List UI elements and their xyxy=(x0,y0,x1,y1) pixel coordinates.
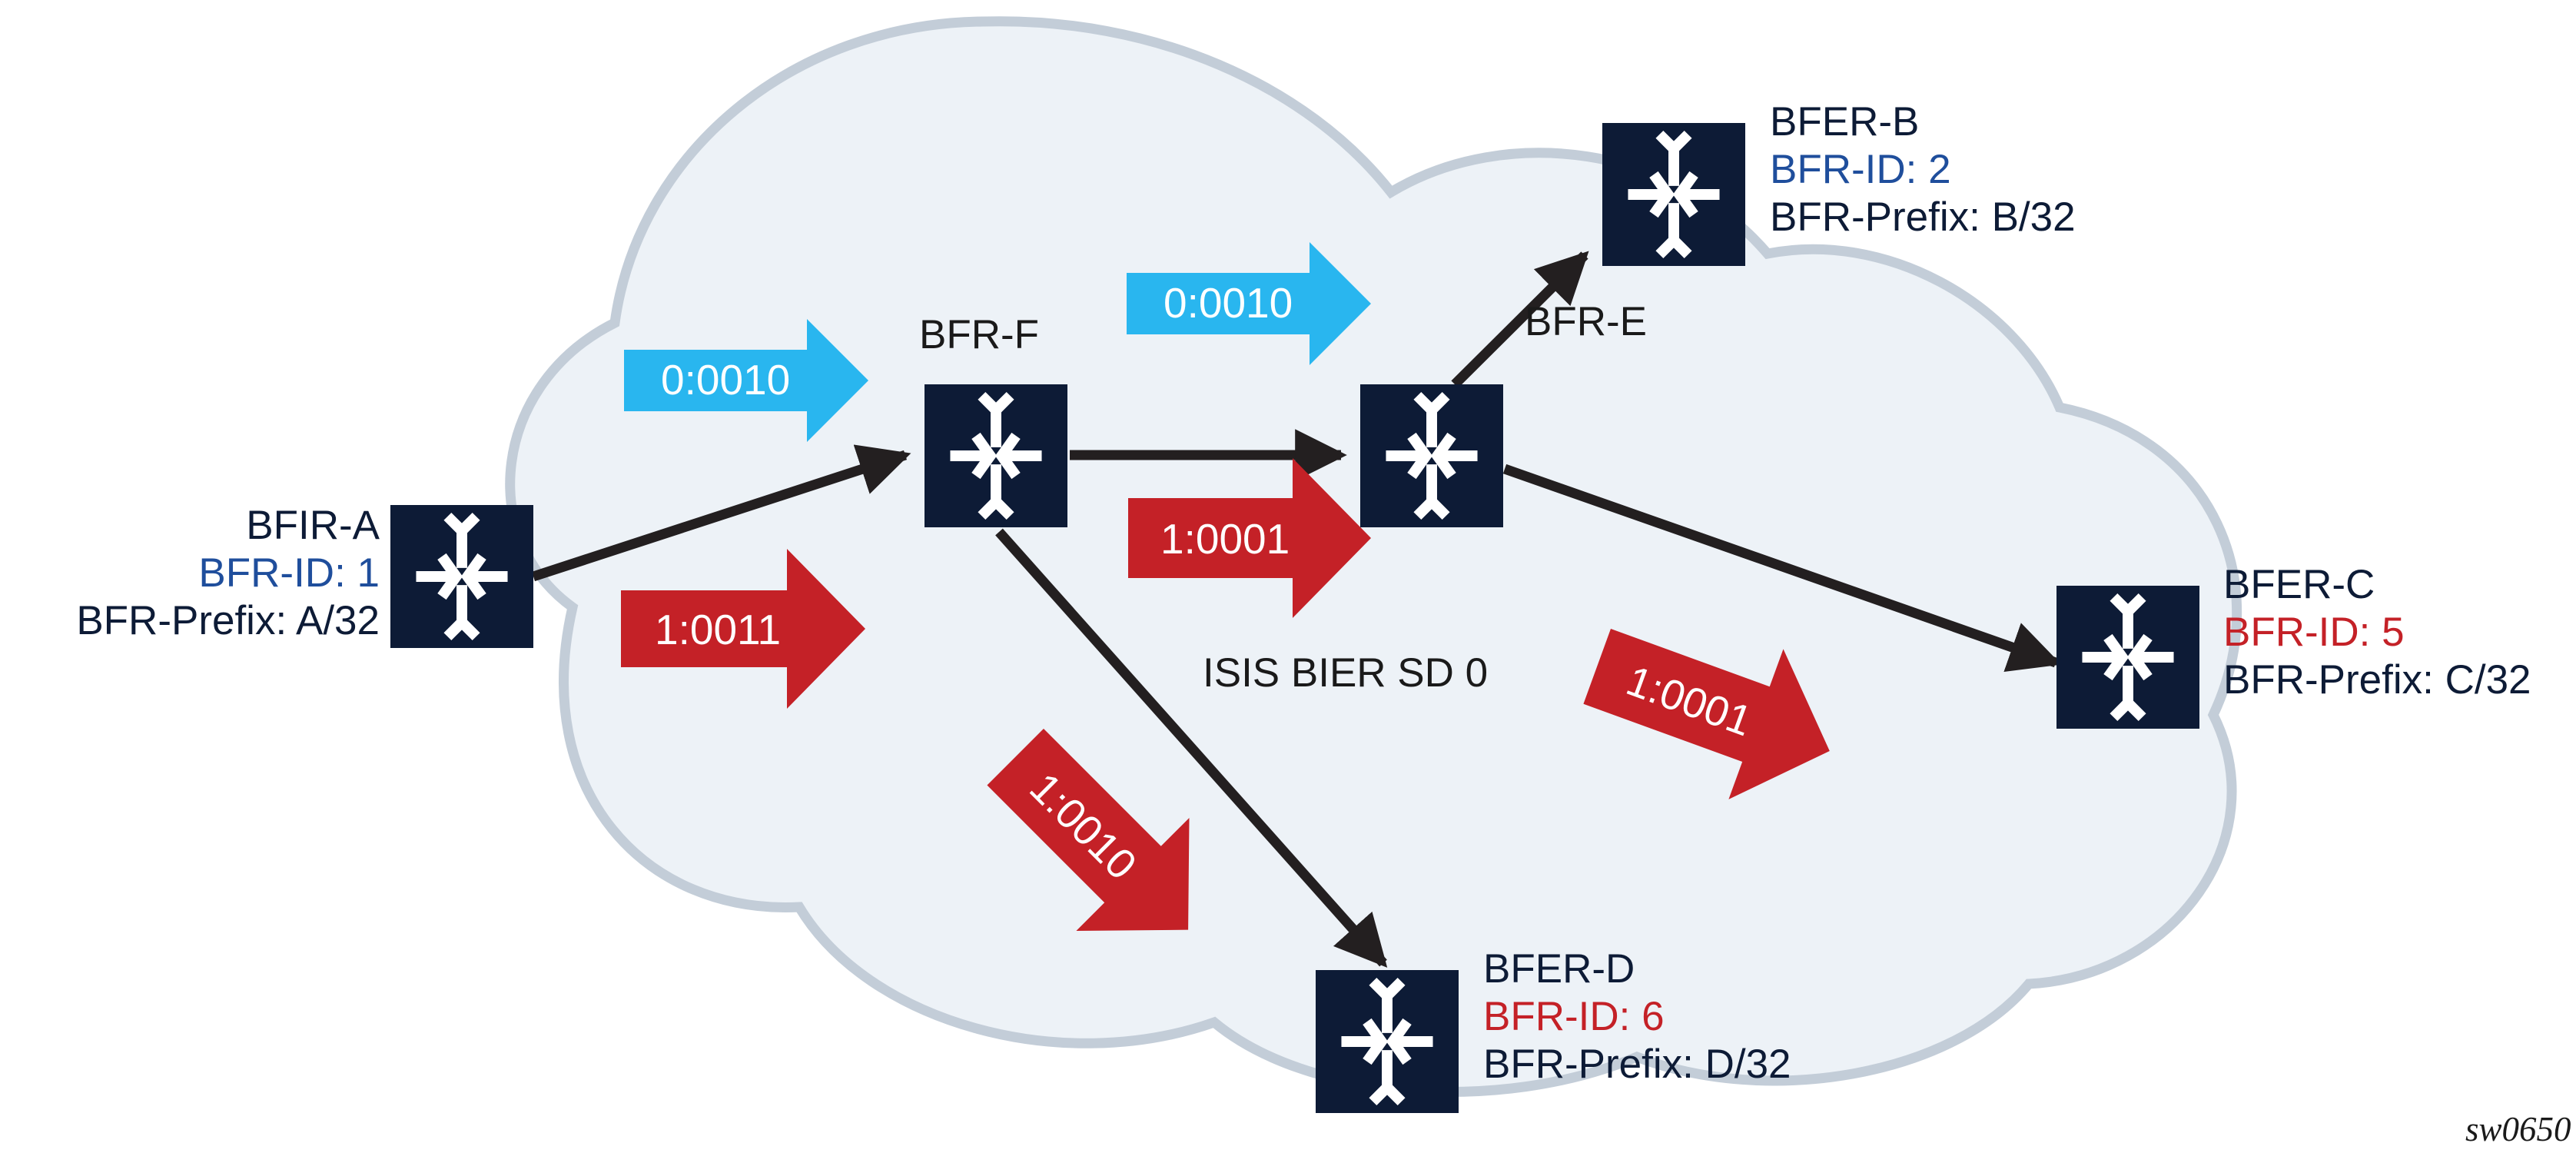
node-name-bfer-b: BFER-B xyxy=(1770,98,2076,146)
node-bfr-id-bfer-b: BFR-ID: 2 xyxy=(1770,146,2076,194)
diagram-canvas: 0:0010 0:0010 1:0011 1:0001 1:0010 1:000… xyxy=(0,0,2576,1163)
node-bfr-prefix-bfer-c: BFR-Prefix: C/32 xyxy=(2223,656,2531,704)
figure-watermark: sw0650 xyxy=(2465,1109,2571,1149)
node-bfr-id-bfer-d: BFR-ID: 6 xyxy=(1483,993,1791,1041)
node-label-bfer-d: BFER-D BFR-ID: 6 BFR-Prefix: D/32 xyxy=(1483,945,1791,1088)
bitstring-arrow-f-to-e-label: 0:0010 xyxy=(1164,279,1293,327)
node-bfr-e[interactable] xyxy=(1360,384,1503,527)
domain-label: ISIS BIER SD 0 xyxy=(1203,650,1488,696)
bitstring-arrow-f-to-e-red-label: 1:0001 xyxy=(1160,515,1290,563)
node-bfir-a[interactable] xyxy=(390,505,533,648)
node-name-bfr-f: BFR-F xyxy=(919,311,1039,358)
node-name-bfer-d: BFER-D xyxy=(1483,945,1791,993)
node-name-bfir-a: BFIR-A xyxy=(0,502,380,550)
network-diagram-svg: 0:0010 0:0010 1:0011 1:0001 1:0010 1:000… xyxy=(0,0,2576,1163)
node-bfer-d[interactable] xyxy=(1316,970,1459,1113)
node-name-bfer-c: BFER-C xyxy=(2223,561,2531,609)
bitstring-arrow-a-to-f-label: 0:0010 xyxy=(661,356,790,404)
node-bfr-f[interactable] xyxy=(925,384,1067,527)
node-label-bfer-c: BFER-C BFR-ID: 5 BFR-Prefix: C/32 xyxy=(2223,561,2531,704)
node-bfr-prefix-bfer-b: BFR-Prefix: B/32 xyxy=(1770,194,2076,241)
node-bfer-b[interactable] xyxy=(1602,123,1745,266)
bitstring-arrow-a-to-f-red-label: 1:0011 xyxy=(655,606,781,653)
node-bfr-id-bfir-a: BFR-ID: 1 xyxy=(0,550,380,597)
node-bfr-prefix-bfer-d: BFR-Prefix: D/32 xyxy=(1483,1041,1791,1088)
node-bfer-c[interactable] xyxy=(2056,586,2199,729)
node-name-bfr-e: BFR-E xyxy=(1525,298,1647,345)
node-label-bfer-b: BFER-B BFR-ID: 2 BFR-Prefix: B/32 xyxy=(1770,98,2076,241)
node-label-bfir-a: BFIR-A BFR-ID: 1 BFR-Prefix: A/32 xyxy=(0,502,380,645)
node-bfr-id-bfer-c: BFR-ID: 5 xyxy=(2223,609,2531,656)
node-bfr-prefix-bfir-a: BFR-Prefix: A/32 xyxy=(0,597,380,645)
